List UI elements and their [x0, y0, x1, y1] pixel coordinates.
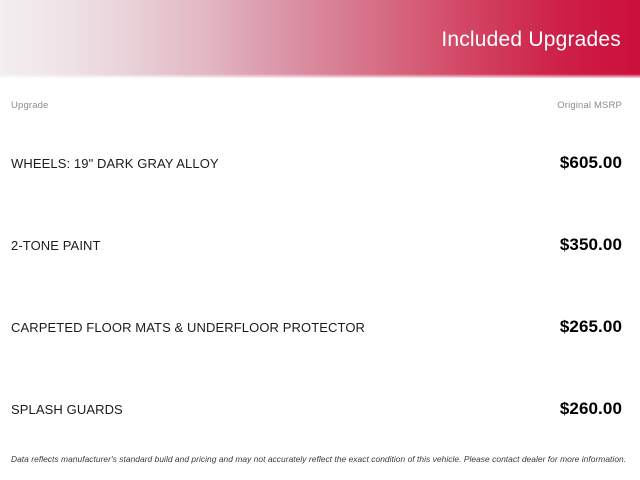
- disclaimer-text: Data reflects manufacturer's standard bu…: [11, 454, 622, 464]
- column-header-original-msrp: Original MSRP: [557, 100, 622, 111]
- table-row[interactable]: SPLASH GUARDS $260.00: [0, 368, 640, 450]
- upgrades-table: Upgrade Original MSRP WHEELS: 19" DARK G…: [0, 88, 640, 450]
- column-header-upgrade: Upgrade: [11, 100, 49, 111]
- upgrade-price: $265.00: [560, 317, 622, 337]
- page-header-banner: Included Upgrades: [0, 0, 640, 78]
- footer: Data reflects manufacturer's standard bu…: [0, 454, 640, 464]
- upgrade-price: $605.00: [560, 153, 622, 173]
- table-row[interactable]: CARPETED FLOOR MATS & UNDERFLOOR PROTECT…: [0, 286, 640, 368]
- upgrade-name: CARPETED FLOOR MATS & UNDERFLOOR PROTECT…: [11, 320, 365, 335]
- upgrade-name: SPLASH GUARDS: [11, 402, 123, 417]
- upgrade-name: WHEELS: 19" DARK GRAY ALLOY: [11, 156, 219, 171]
- upgrade-price: $260.00: [560, 399, 622, 419]
- included-upgrades-panel: Included Upgrades Upgrade Original MSRP …: [0, 0, 640, 480]
- table-row[interactable]: WHEELS: 19" DARK GRAY ALLOY $605.00: [0, 122, 640, 204]
- table-header-row: Upgrade Original MSRP: [0, 88, 640, 122]
- upgrade-price: $350.00: [560, 235, 622, 255]
- page-title: Included Upgrades: [441, 29, 621, 50]
- upgrade-name: 2-TONE PAINT: [11, 238, 101, 253]
- banner-bottom-fade: [0, 74, 640, 78]
- table-row[interactable]: 2-TONE PAINT $350.00: [0, 204, 640, 286]
